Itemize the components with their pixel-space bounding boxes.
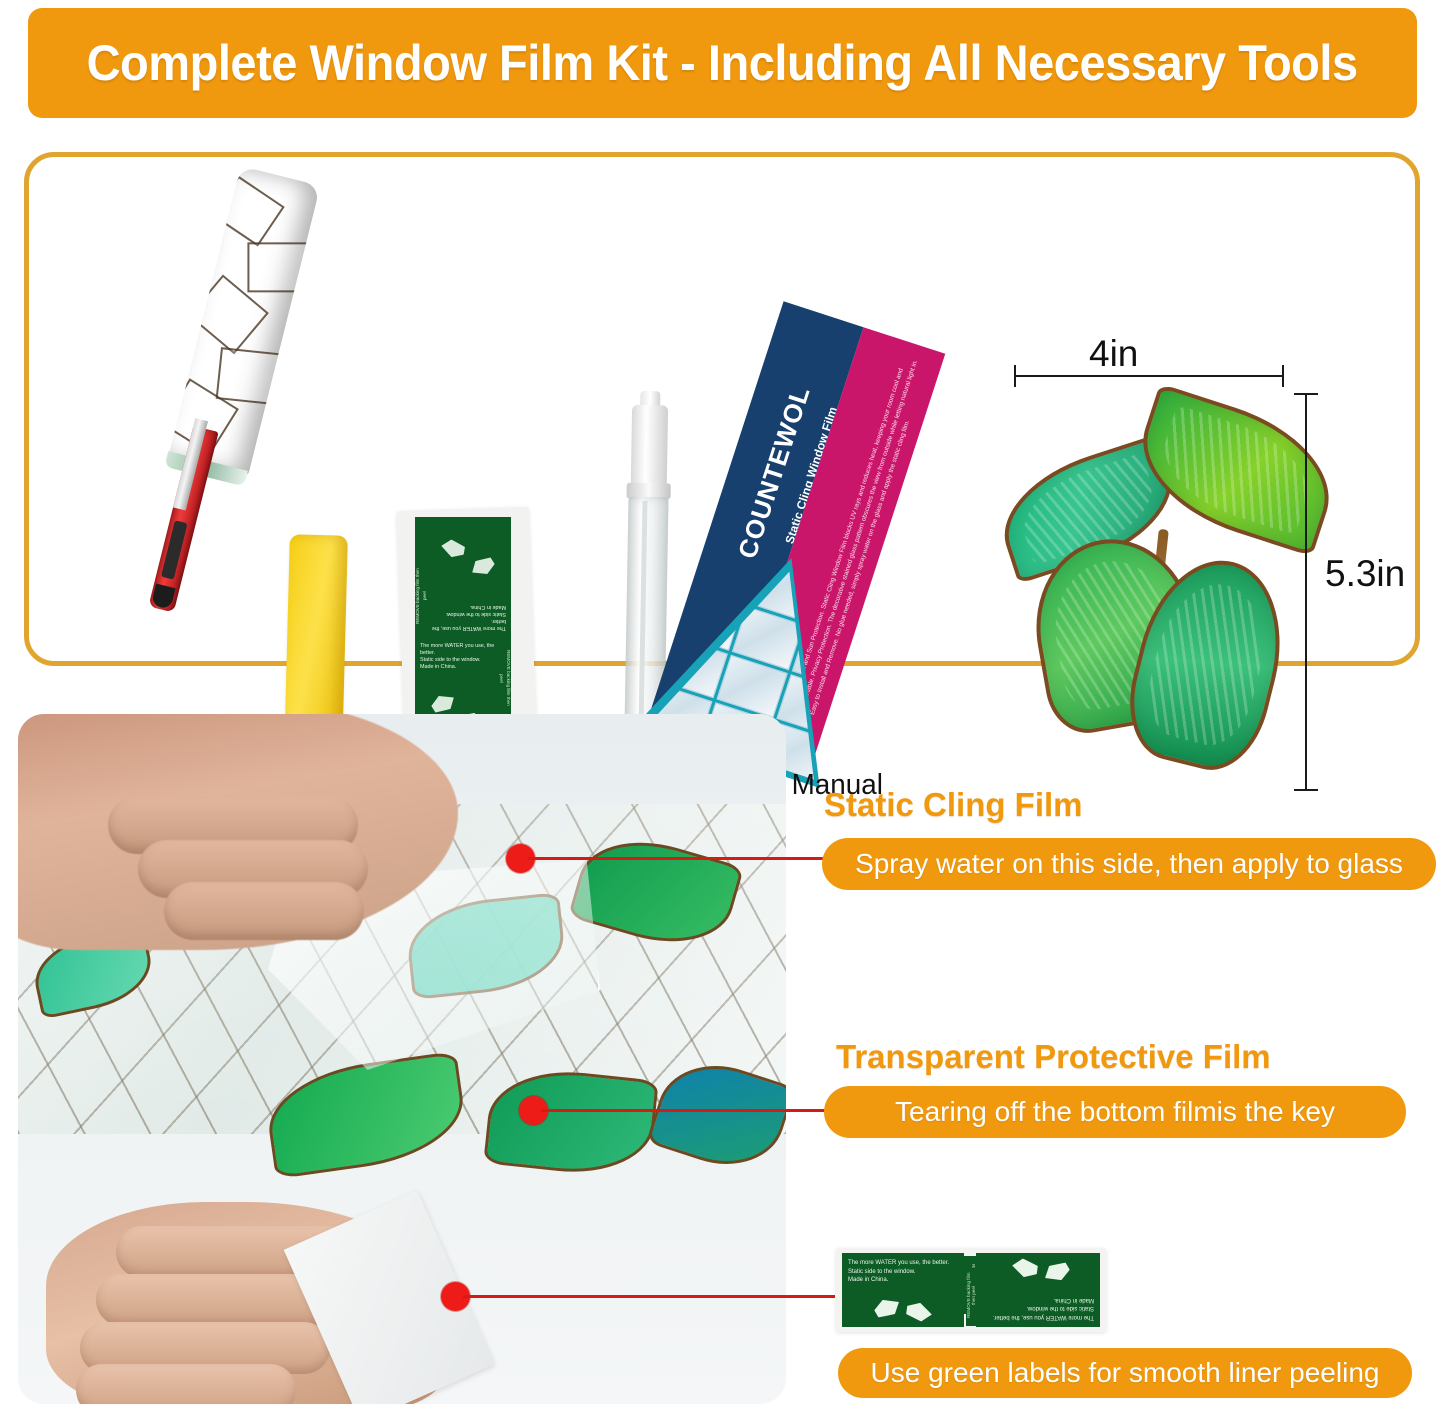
callout-pill-static-cling: Spray water on this side, then apply to …	[822, 838, 1436, 890]
height-dimension-label: 5.3in	[1325, 553, 1405, 595]
hand-icon	[872, 1296, 902, 1320]
hand-icon	[469, 556, 497, 579]
green-label-line1: The more WATER you use, the better.	[982, 1313, 1094, 1322]
green-label-line3: Made in China.	[982, 1296, 1094, 1305]
callout-title-static-cling: Static Cling Film	[824, 786, 1083, 824]
leaf-decal-artwork	[989, 389, 1321, 789]
film-leaf-3	[262, 1051, 470, 1179]
green-label-line1: The more WATER you use, the better.	[420, 643, 506, 657]
knife-tip	[151, 584, 176, 610]
green-label-tab-2: REMOVE backing film then peel	[966, 1268, 982, 1326]
green-label-line1: The more WATER you use, the better.	[420, 617, 506, 631]
spray-cap	[631, 405, 668, 488]
width-dimension-line	[1014, 375, 1284, 377]
green-label-top: The more WATER you use, the better. Stat…	[415, 517, 511, 637]
green-label-tab: REMOVE backing film then peel	[496, 643, 511, 709]
green-label-pane-left: The more WATER you use, the better. Stat…	[842, 1253, 964, 1327]
hand-icon	[1042, 1261, 1072, 1285]
hand-icon	[904, 1299, 934, 1325]
infographic-page: Complete Window Film Kit - Including All…	[0, 0, 1445, 1418]
callout-pill-green-labels: Use green labels for smooth liner peelin…	[838, 1348, 1412, 1398]
leader-line-green-labels	[463, 1295, 835, 1298]
leader-line-static-cling	[528, 857, 828, 860]
green-label-line3: Made in China.	[420, 664, 506, 671]
operation-manual-icon: COUNTEWOL Static Cling Window Film Heat …	[713, 317, 963, 757]
film-leaf-4	[483, 1064, 659, 1181]
green-label-thumbnail: The more WATER you use, the better. Stat…	[836, 1248, 1106, 1332]
green-label-line2: Static side to the window.	[848, 1268, 958, 1277]
callout-pill-protective-film: Tearing off the bottom filmis the key	[824, 1086, 1406, 1138]
green-label-line3: Made in China.	[420, 603, 506, 610]
green-label-pane-right: The more WATER you use, the better. Stat…	[976, 1253, 1100, 1327]
width-dimension-label: 4in	[1089, 333, 1138, 375]
page-title: Complete Window Film Kit - Including All…	[87, 34, 1358, 92]
film-leaf-5	[646, 1049, 786, 1181]
green-label-line2: Static side to the window.	[420, 610, 506, 617]
kit-stage: The more WATER you use, the better. Stat…	[29, 157, 1415, 661]
green-label-line1: The more WATER you use, the better.	[848, 1259, 958, 1268]
height-dimension-line	[1305, 393, 1307, 791]
green-label-line3: Made in China.	[848, 1276, 958, 1285]
hand-icon	[429, 692, 457, 715]
rolled-film-icon	[168, 166, 320, 477]
hand-icon	[439, 537, 467, 561]
knife-slider	[161, 520, 188, 579]
green-label-line2: Static side to the window.	[982, 1304, 1094, 1313]
green-label-line2: Static side to the window.	[420, 657, 506, 664]
green-label-tab: REMOVE backing film then peel	[415, 565, 430, 631]
header-banner: Complete Window Film Kit - Including All…	[28, 8, 1417, 118]
application-photo	[18, 714, 786, 1404]
kit-contents-panel: The more WATER you use, the better. Stat…	[24, 152, 1420, 666]
hand-icon	[1010, 1256, 1040, 1282]
leader-line-protective-film	[541, 1109, 837, 1112]
callout-title-protective-film: Transparent Protective Film	[836, 1038, 1271, 1076]
decal-leaf-top-right	[1124, 383, 1349, 556]
